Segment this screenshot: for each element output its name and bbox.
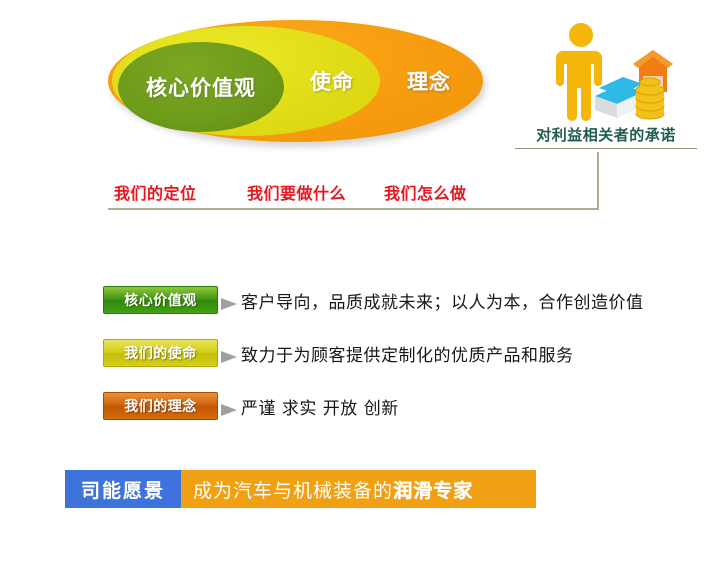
value-description: 严谨 求实 开放 创新: [241, 394, 399, 419]
question-row: 我们的定位 我们要做什么 我们怎么做: [108, 180, 600, 204]
venn-ring-inner-label: 核心价值观: [146, 72, 256, 102]
venn-diagram: 理念 使命 核心价值观: [108, 20, 483, 145]
value-row: 我们的理念 严谨 求实 开放 创新: [103, 392, 703, 425]
value-description: 致力于为顾客提供定制化的优质产品和服务: [241, 341, 574, 366]
venn-ring-mid-label: 使命: [310, 66, 354, 96]
value-chip-label: 我们的理念: [124, 396, 197, 416]
venn-ring-outer-label: 理念: [407, 66, 451, 96]
value-chip-label: 我们的使命: [124, 343, 197, 363]
vision-body: 成为汽车与机械装备的润滑专家: [181, 470, 536, 508]
venn-ring-mid: 使命 核心价值观: [112, 26, 380, 136]
value-description: 客户导向，品质成就未来；以人为本，合作创造价值: [241, 288, 644, 313]
connector-horizontal-line: [108, 208, 599, 210]
value-rows: 核心价值观 客户导向，品质成就未来；以人为本，合作创造价值 我们的使命 致力于为…: [103, 286, 703, 445]
question-label-positioning: 我们的定位: [114, 180, 197, 204]
value-chip-core-values: 核心价值观: [103, 286, 218, 314]
stakeholder-block: 对利益相关者的承诺: [515, 22, 700, 157]
vision-banner: 司能愿景 成为汽车与机械装备的润滑专家: [65, 470, 536, 508]
value-row: 我们的使命 致力于为顾客提供定制化的优质产品和服务: [103, 339, 703, 372]
vision-tag: 司能愿景: [65, 470, 181, 508]
person-with-books-coins-house-icon: [537, 22, 677, 124]
value-row: 核心价值观 客户导向，品质成就未来；以人为本，合作创造价值: [103, 286, 703, 319]
venn-ring-outer: 理念 使命 核心价值观: [108, 20, 483, 142]
vision-body-emphasis: 润滑专家: [393, 476, 473, 503]
vision-body-prefix: 成为汽车与机械装备的: [193, 476, 393, 503]
vision-tag-label: 司能愿景: [81, 476, 165, 503]
arrow-right-icon: [221, 351, 237, 363]
stakeholder-caption: 对利益相关者的承诺: [515, 124, 697, 149]
value-chip-mission: 我们的使命: [103, 339, 218, 367]
value-chip-philosophy: 我们的理念: [103, 392, 218, 420]
arrow-right-icon: [221, 404, 237, 416]
question-label-how-we-do: 我们怎么做: [384, 180, 467, 204]
venn-ring-inner: 核心价值观: [118, 42, 284, 132]
value-chip-label: 核心价值观: [124, 290, 197, 310]
arrow-right-icon: [221, 298, 237, 310]
question-label-what-we-do: 我们要做什么: [247, 180, 346, 204]
